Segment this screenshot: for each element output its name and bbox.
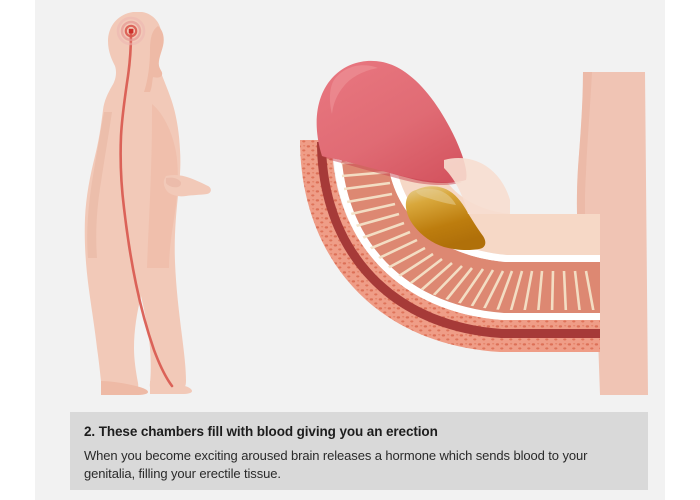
brain-signal-pulse-icon — [118, 18, 144, 44]
body-profile-figure — [85, 12, 211, 395]
caption-body: When you become exciting aroused brain r… — [84, 447, 634, 483]
caption-title: 2. These chambers fill with blood giving… — [84, 424, 634, 441]
caption-box: 2. These chambers fill with blood giving… — [70, 412, 648, 490]
erectile-tissue-cross-section — [300, 61, 600, 352]
infographic-page: 2. These chambers fill with blood giving… — [0, 0, 700, 500]
